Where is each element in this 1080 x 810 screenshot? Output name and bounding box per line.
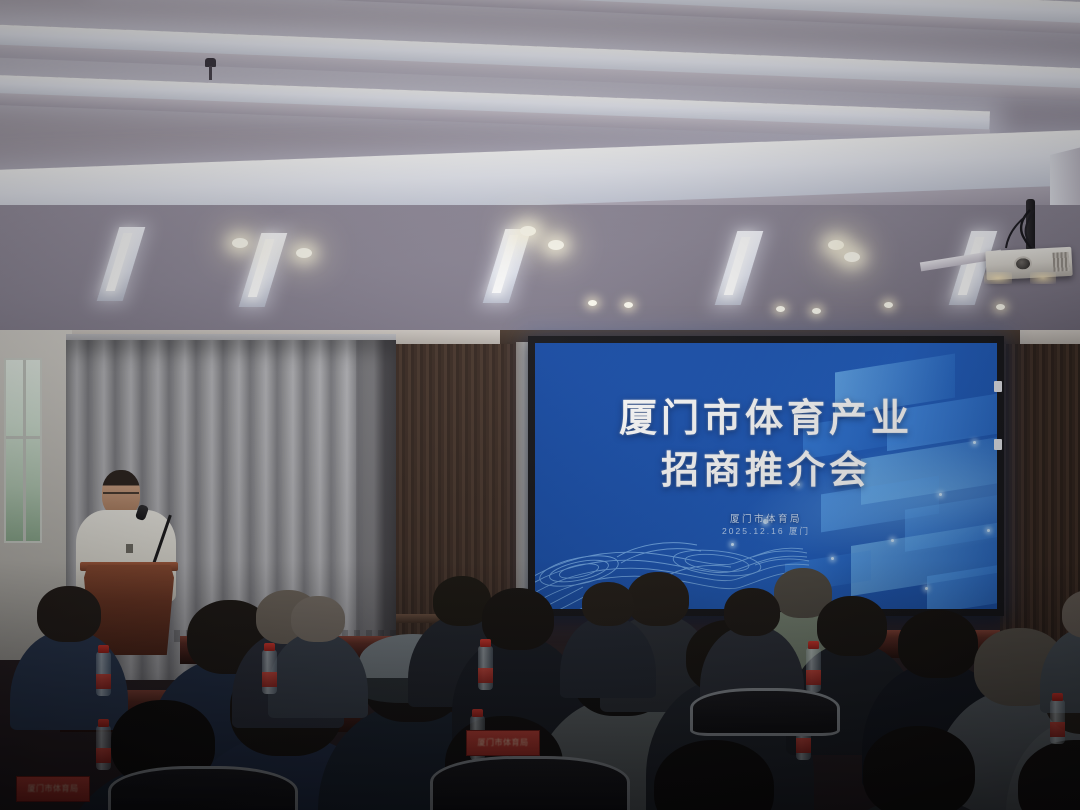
- slide-organizer: 厦门市体育局: [535, 511, 997, 525]
- water-bottle-7: [806, 648, 821, 692]
- speaker-glasses-icon: [103, 492, 139, 498]
- ceiling-downlight-11: [996, 304, 1005, 310]
- conference-room-photo: 厦门市体育产业 招商推介会 厦门市体育局 2025.12.16 厦门 厦门市体育…: [0, 0, 1080, 810]
- chair-back-3: [690, 688, 840, 736]
- bottle-label-3: [262, 672, 277, 687]
- bottle-label-6: [796, 738, 811, 753]
- slide-spark-3: [891, 539, 894, 542]
- bottle-label-2: [96, 748, 111, 763]
- audience-head-20: [1018, 740, 1080, 810]
- audience-head-18: [654, 740, 774, 810]
- name-placard-1: 厦门市体育局: [16, 776, 90, 802]
- ceiling-downlight-4: [548, 240, 564, 250]
- ceiling-downlight-10: [812, 308, 821, 314]
- bottle-label-1: [96, 674, 111, 689]
- ceiling-slot-light-4: [715, 231, 764, 305]
- screen-bezel-marker-top: [994, 381, 1002, 392]
- projector-vent-icon: [1052, 252, 1069, 272]
- slide-title-line-2: 招商推介会: [535, 445, 997, 497]
- audience-head-23: [724, 588, 780, 636]
- smoke-detector-icon: [205, 58, 216, 67]
- audience-head-1: [37, 586, 101, 642]
- bottle-cap-8: [1052, 693, 1063, 701]
- bottle-cap-5: [480, 639, 491, 647]
- audience-head-24: [1062, 590, 1080, 638]
- window-mullion-horizontal: [6, 436, 40, 439]
- bottle-cap-2: [98, 719, 109, 727]
- water-bottle-2: [96, 726, 111, 770]
- chair-back-1: [108, 766, 298, 810]
- audience-head-21: [291, 596, 345, 642]
- projector-lens-icon: [1014, 256, 1033, 272]
- ceiling-downlight-9: [776, 306, 785, 312]
- bottle-cap-4: [472, 709, 483, 717]
- ceiling-downlight-12: [884, 302, 893, 308]
- projector-light-spill-left: [984, 272, 1012, 284]
- bottle-label-5: [478, 668, 493, 683]
- name-placard-text-1: 厦门市体育局: [17, 783, 89, 794]
- audience-shoulders-22: [560, 616, 656, 698]
- chair-back-2: [430, 756, 630, 810]
- window: [4, 358, 42, 543]
- projector-light-spill-right: [1030, 272, 1056, 284]
- ceiling-slot-light-1: [97, 227, 146, 301]
- water-bottle-1: [96, 652, 111, 696]
- audience-shoulders-21: [268, 632, 368, 718]
- slide-spark-8: [925, 587, 928, 590]
- slide-title: 厦门市体育产业 招商推介会: [535, 393, 997, 498]
- slide-title-line-1: 厦门市体育产业: [535, 393, 997, 445]
- ceiling-downlight-3: [520, 226, 536, 236]
- audience-person-20: [962, 740, 1080, 810]
- screen-bezel-marker-mid: [994, 439, 1002, 450]
- name-placard-2: 厦门市体育局: [466, 730, 540, 756]
- ceiling-downlight-6: [844, 252, 860, 262]
- ceiling-downlight-1: [232, 238, 248, 248]
- bottle-cap-3: [264, 643, 275, 651]
- slide-date-location: 2025.12.16 厦门: [535, 525, 997, 537]
- ceiling-lower-plane: [0, 205, 1080, 345]
- ceiling-downlight-7: [588, 300, 597, 306]
- ceiling-slot-light-3: [483, 229, 532, 303]
- bottle-cap-1: [98, 645, 109, 653]
- water-bottle-5: [478, 646, 493, 690]
- slide-spark-5: [831, 557, 834, 560]
- audience-person-22: [560, 582, 656, 708]
- window-mullion-vertical: [23, 360, 26, 541]
- water-bottle-3: [262, 650, 277, 694]
- ceiling-downlight-5: [828, 240, 844, 250]
- water-bottle-8: [1050, 700, 1065, 744]
- bottle-cap-7: [808, 641, 819, 649]
- ceiling-downlight-8: [624, 302, 633, 308]
- audience-person-21: [268, 596, 368, 728]
- bottle-label-7: [806, 670, 821, 685]
- ceiling-downlight-2: [296, 248, 312, 258]
- audience-head-22: [582, 582, 634, 626]
- audience-head-19: [863, 726, 975, 810]
- speaker-badge: [126, 544, 133, 553]
- bottle-label-8: [1050, 722, 1065, 737]
- name-placard-text-2: 厦门市体育局: [467, 737, 539, 748]
